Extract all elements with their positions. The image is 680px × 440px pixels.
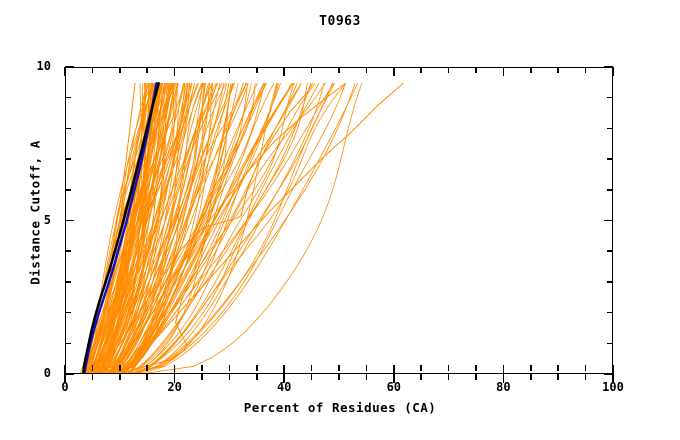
x-tick-top-60 xyxy=(393,365,395,374)
y-tick-label-5: 5 xyxy=(0,213,51,227)
x-tick-90 xyxy=(557,374,559,380)
x-tick-top-95 xyxy=(585,365,587,371)
y-tick-10 xyxy=(65,66,74,68)
x-tick-top-5 xyxy=(92,365,94,371)
y-tick-5 xyxy=(65,220,74,222)
y-axis-title: Distance Cutoff, A xyxy=(28,83,43,343)
y-tick-right-9 xyxy=(607,97,613,99)
plot-canvas xyxy=(66,68,613,374)
x-tick-topedge-15 xyxy=(146,67,148,73)
y-tick-2 xyxy=(65,312,71,314)
x-tick-top-100 xyxy=(612,365,614,374)
x-tick-topedge-55 xyxy=(366,67,368,73)
x-tick-topedge-50 xyxy=(338,67,340,73)
y-tick-right-1 xyxy=(607,343,613,345)
x-tick-label-40: 40 xyxy=(254,380,314,394)
y-tick-3 xyxy=(65,281,71,283)
x-tick-label-100: 100 xyxy=(583,380,643,394)
y-tick-right-3 xyxy=(607,281,613,283)
x-tick-label-60: 60 xyxy=(364,380,424,394)
x-tick-top-50 xyxy=(338,365,340,371)
x-tick-top-85 xyxy=(530,365,532,371)
x-tick-10 xyxy=(119,374,121,380)
x-tick-topedge-60 xyxy=(393,67,395,76)
x-tick-top-20 xyxy=(174,365,176,374)
x-tick-top-40 xyxy=(283,365,285,374)
x-tick-top-25 xyxy=(201,365,203,371)
chart-figure: T0963 0510 020406080100 Percent of Resid… xyxy=(0,0,680,440)
x-tick-top-45 xyxy=(311,365,313,371)
x-tick-top-0 xyxy=(64,365,66,374)
plot-area xyxy=(65,67,613,374)
x-tick-top-10 xyxy=(119,365,121,371)
x-tick-label-20: 20 xyxy=(145,380,205,394)
x-tick-50 xyxy=(338,374,340,380)
x-tick-topedge-75 xyxy=(475,67,477,73)
x-tick-topedge-80 xyxy=(503,67,505,76)
x-tick-topedge-100 xyxy=(612,67,614,76)
x-tick-topedge-35 xyxy=(256,67,258,73)
y-tick-right-2 xyxy=(607,312,613,314)
x-tick-topedge-5 xyxy=(92,67,94,73)
x-tick-top-15 xyxy=(146,365,148,371)
x-tick-topedge-0 xyxy=(64,67,66,76)
y-tick-right-8 xyxy=(607,128,613,130)
x-tick-topedge-25 xyxy=(201,67,203,73)
y-tick-label-10: 10 xyxy=(0,59,51,73)
y-tick-1 xyxy=(65,343,71,345)
x-axis-title: Percent of Residues (CA) xyxy=(0,400,680,415)
y-tick-0 xyxy=(65,373,74,375)
y-tick-6 xyxy=(65,189,71,191)
x-tick-topedge-95 xyxy=(585,67,587,73)
y-tick-right-7 xyxy=(607,158,613,160)
x-tick-top-55 xyxy=(366,365,368,371)
x-tick-top-75 xyxy=(475,365,477,371)
x-tick-topedge-45 xyxy=(311,67,313,73)
x-tick-top-30 xyxy=(229,365,231,371)
x-tick-top-90 xyxy=(557,365,559,371)
y-tick-right-6 xyxy=(607,189,613,191)
x-tick-top-65 xyxy=(420,365,422,371)
x-tick-label-0: 0 xyxy=(35,380,95,394)
x-tick-topedge-65 xyxy=(420,67,422,73)
x-tick-topedge-40 xyxy=(283,67,285,76)
x-tick-30 xyxy=(229,374,231,380)
x-tick-topedge-30 xyxy=(229,67,231,73)
x-tick-topedge-20 xyxy=(174,67,176,76)
chart-title: T0963 xyxy=(0,14,680,29)
y-tick-right-5 xyxy=(604,220,613,222)
x-tick-70 xyxy=(448,374,450,380)
x-tick-top-80 xyxy=(503,365,505,374)
x-tick-topedge-10 xyxy=(119,67,121,73)
x-tick-top-35 xyxy=(256,365,258,371)
y-tick-9 xyxy=(65,97,71,99)
x-tick-top-70 xyxy=(448,365,450,371)
y-tick-label-0: 0 xyxy=(0,366,51,380)
x-tick-topedge-70 xyxy=(448,67,450,73)
y-tick-4 xyxy=(65,250,71,252)
x-tick-label-80: 80 xyxy=(473,380,533,394)
y-tick-7 xyxy=(65,158,71,160)
y-tick-right-4 xyxy=(607,250,613,252)
y-tick-8 xyxy=(65,128,71,130)
x-tick-topedge-90 xyxy=(557,67,559,73)
x-tick-topedge-85 xyxy=(530,67,532,73)
